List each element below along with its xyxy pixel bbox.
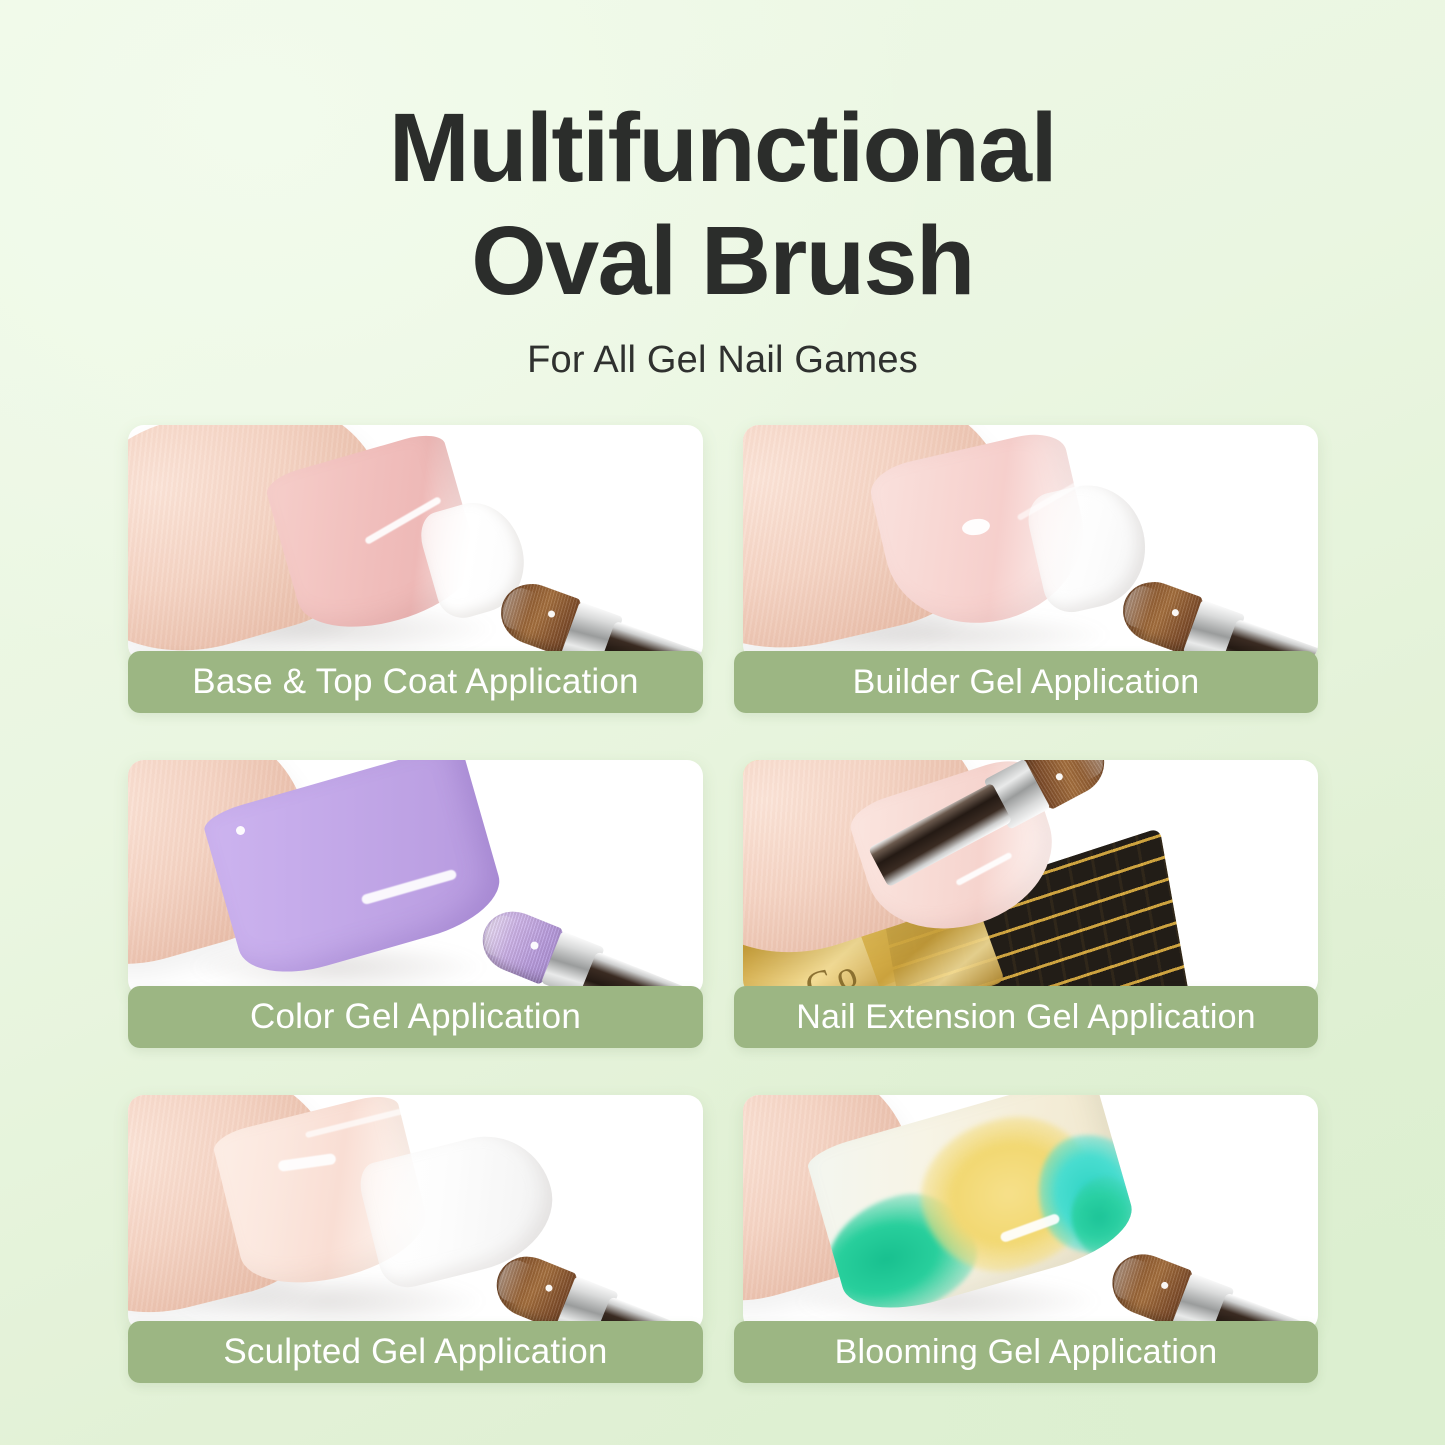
page-subtitle: For All Gel Nail Games — [0, 339, 1445, 382]
nail-highlight — [236, 826, 245, 835]
card-photo-sculpted-gel — [128, 1095, 703, 1331]
header: Multifunctional Oval Brush For All Gel N… — [0, 92, 1445, 382]
card-label-builder-gel: Builder Gel Application — [734, 651, 1318, 713]
scene-nail-extension: Co — [743, 760, 1318, 996]
card-photo-nail-extension: Co — [743, 760, 1318, 996]
card-label-nail-extension: Nail Extension Gel Application — [734, 986, 1318, 1048]
card-label-blooming-gel: Blooming Gel Application — [734, 1321, 1318, 1383]
scene-color-gel — [128, 760, 703, 996]
scene-sculpted-gel — [128, 1095, 703, 1331]
card-photo-blooming-gel — [743, 1095, 1318, 1331]
feature-card-blooming-gel: Blooming Gel Application — [734, 1095, 1318, 1383]
feature-card-base-top-coat: Base & Top Coat Application — [128, 425, 712, 713]
feature-card-nail-extension: Co Nail Extension Gel Application — [734, 760, 1318, 1048]
card-photo-builder-gel — [743, 425, 1318, 661]
title-line-2: Oval Brush — [223, 205, 1223, 318]
feature-card-builder-gel: Builder Gel Application — [734, 425, 1318, 713]
scene-base-top-coat — [128, 425, 703, 661]
feature-card-sculpted-gel: Sculpted Gel Application — [128, 1095, 712, 1383]
scene-builder-gel — [743, 425, 1318, 661]
card-photo-base-top-coat — [128, 425, 703, 661]
infographic-page: Multifunctional Oval Brush For All Gel N… — [0, 0, 1445, 1445]
feature-card-color-gel: Color Gel Application — [128, 760, 712, 1048]
card-label-sculpted-gel: Sculpted Gel Application — [128, 1321, 703, 1383]
title-line-1: Multifunctional — [223, 92, 1223, 205]
card-label-color-gel: Color Gel Application — [128, 986, 703, 1048]
scene-blooming-gel — [743, 1095, 1318, 1331]
card-label-base-top-coat: Base & Top Coat Application — [128, 651, 703, 713]
page-title: Multifunctional Oval Brush — [223, 92, 1223, 317]
card-photo-color-gel — [128, 760, 703, 996]
feature-card-grid: Base & Top Coat Application — [128, 425, 1318, 1383]
